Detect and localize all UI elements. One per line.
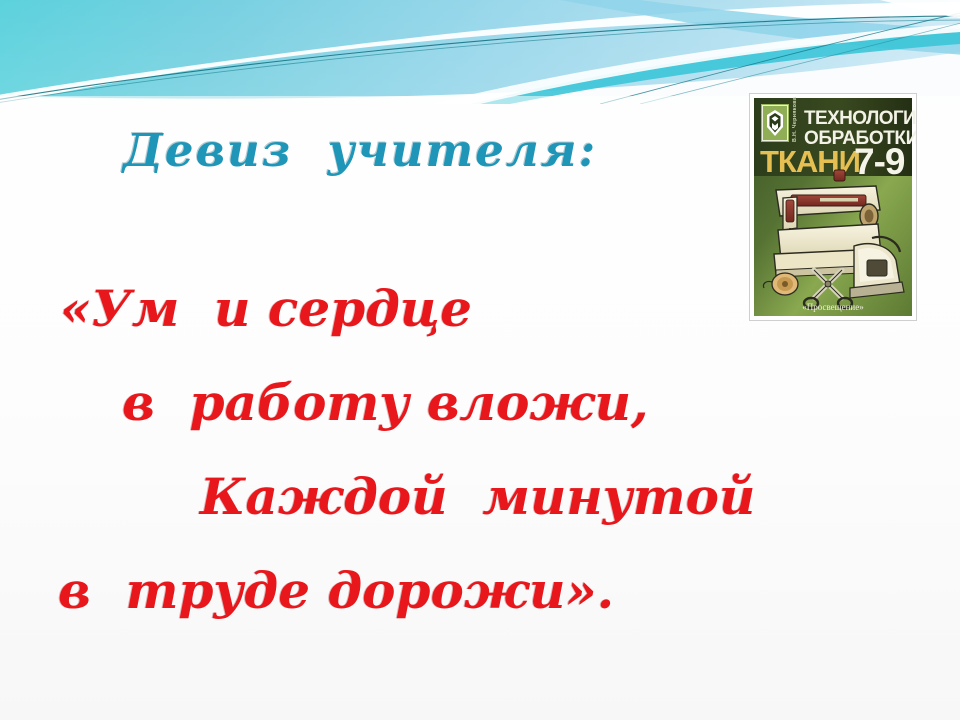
- decorative-wave-band: [0, 0, 960, 104]
- motto-line: Каждой минутой: [200, 450, 740, 544]
- book-author-text: В.Н. Чернякова: [792, 96, 798, 142]
- wave-graphic: [0, 0, 960, 104]
- slide-canvas: Девиз учителя: «Ум и сердце в работу вло…: [0, 0, 960, 720]
- motto-block: «Ум и сердце в работу вложи, Каждой мину…: [0, 262, 740, 638]
- book-publisher-text: «Просвещение»: [802, 302, 863, 312]
- motto-line: в работу вложи,: [122, 356, 740, 450]
- page-title: Девиз учителя:: [0, 124, 720, 177]
- textbook-cover-image: В.Н. Чернякова ТЕХНОЛОГИЯ ОБРАБОТКИ ТКАН…: [750, 94, 916, 320]
- book-cover-graphic: В.Н. Чернякова ТЕХНОЛОГИЯ ОБРАБОТКИ ТКАН…: [750, 94, 916, 320]
- book-grade-range: 7-9: [854, 141, 905, 182]
- motto-line: «Ум и сердце: [60, 262, 740, 356]
- book-title-line-1: ТЕХНОЛОГИЯ: [804, 108, 916, 129]
- motto-line: в труде дорожи».: [58, 544, 740, 638]
